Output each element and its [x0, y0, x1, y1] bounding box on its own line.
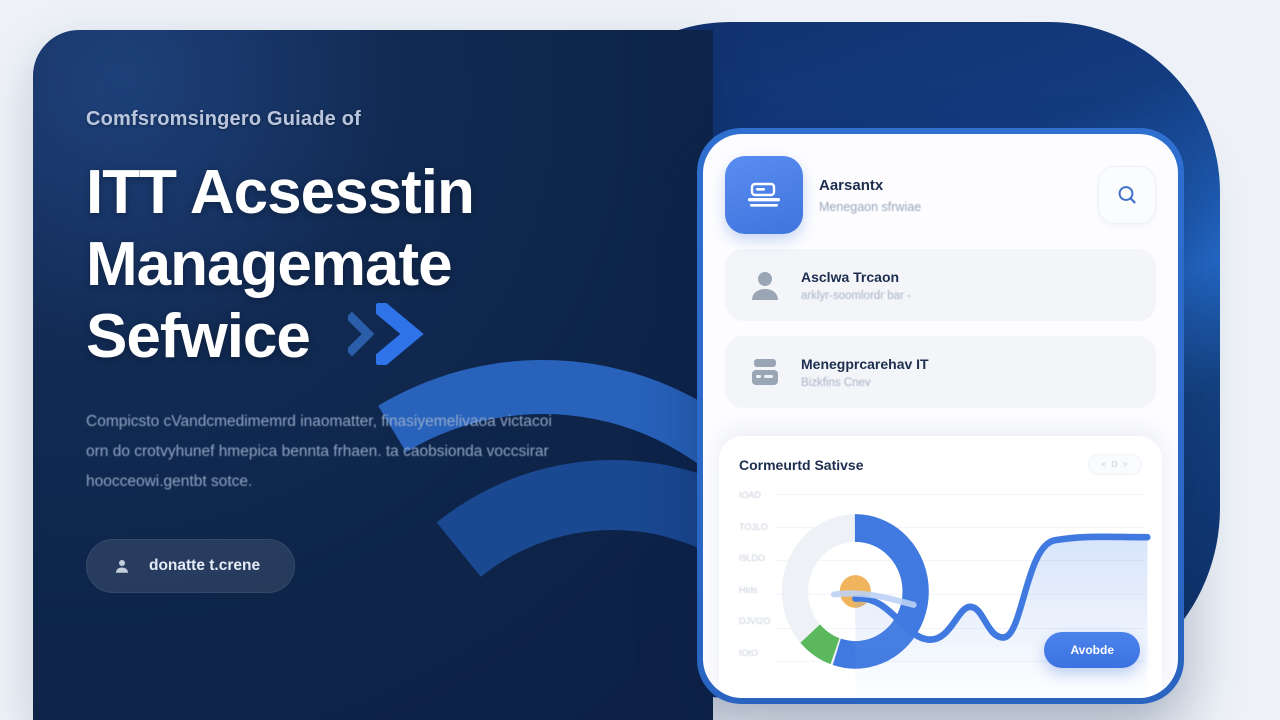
hero-eyebrow: Comfsromsingero Guiade of [86, 108, 646, 131]
list-item-subtitle: arklyr-soomlordr bar - [801, 290, 911, 302]
hero-cta-label: donatte t.crene [149, 557, 260, 575]
chart-cta-button[interactable]: Avobde [1044, 632, 1140, 668]
list-item-subtitle: Bizkfins Cnev [801, 377, 929, 389]
list-item-title: Menegprcarehav IT [801, 356, 929, 372]
chart-header: Cormeurtd Sativse < D > [739, 454, 1142, 475]
server-card-icon [725, 156, 803, 234]
headline-line-1: ITT Acsesstin [86, 157, 646, 229]
chart-title: Cormeurtd Sativse [739, 457, 863, 473]
search-icon [1115, 183, 1139, 207]
headline-line-2: Managemate [86, 229, 646, 301]
list-item[interactable]: Menegprcarehav IT Bizkfins Cnev [725, 336, 1156, 408]
line-chart [834, 537, 1148, 698]
server-rack-icon [745, 352, 785, 392]
list-item-text: Asclwa Trcaon arklyr-soomlordr bar - [801, 269, 911, 302]
double-chevron-right-icon [348, 303, 424, 365]
hero-panel: Comfsromsingero Guiade of ITT Acsesstin … [33, 30, 713, 720]
app-subtitle: Menegaon sfrwiae [819, 200, 1082, 214]
chart-range-badge[interactable]: < D > [1088, 454, 1142, 475]
user-badge-icon [113, 557, 131, 575]
chart-body: IOAD TOJLO I9LDO HIds DJVI2O IOtO [719, 484, 1162, 698]
headline-line-3-wrap: Sefwice [86, 301, 646, 373]
headline-line-3: Sefwice [86, 302, 310, 371]
hero-content: Comfsromsingero Guiade of ITT Acsesstin … [86, 108, 646, 593]
app-card-ring: Aarsantx Menegaon sfrwiae Asclwa Trcaon [697, 128, 1184, 704]
hero-headline: ITT Acsesstin Managemate Sefwice [86, 157, 646, 373]
search-button[interactable] [1098, 166, 1156, 224]
app-card-header: Aarsantx Menegaon sfrwiae [719, 152, 1162, 234]
list-item[interactable]: Asclwa Trcaon arklyr-soomlordr bar - [725, 249, 1156, 321]
app-card: Aarsantx Menegaon sfrwiae Asclwa Trcaon [703, 134, 1178, 698]
hero-cta-button[interactable]: donatte t.crene [86, 539, 295, 593]
chart-panel: Cormeurtd Sativse < D > IOAD TOJLO I9LDO… [719, 436, 1162, 698]
app-title: Aarsantx [819, 177, 1082, 194]
user-avatar-icon [745, 265, 785, 305]
hero-paragraph: Compicsto cVandcmedimemrd inaomatter, fi… [86, 407, 566, 498]
list-item-title: Asclwa Trcaon [801, 269, 911, 285]
app-card-header-text: Aarsantx Menegaon sfrwiae [819, 177, 1082, 214]
list-item-text: Menegprcarehav IT Bizkfins Cnev [801, 356, 929, 389]
